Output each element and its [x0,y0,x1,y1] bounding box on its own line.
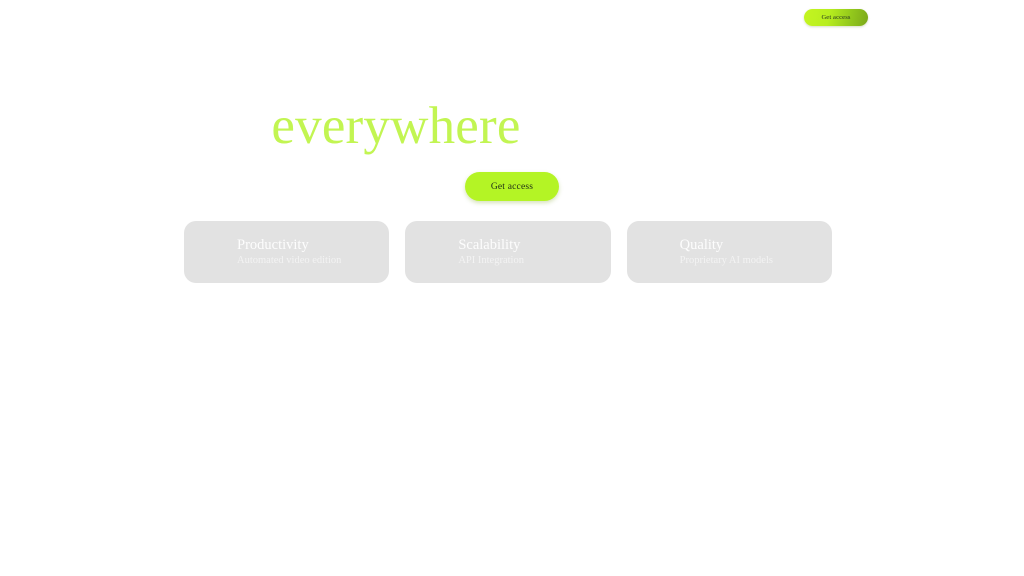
feature-card-productivity[interactable]: Productivity Automated video edition [184,221,389,283]
feature-card-title: Productivity [237,237,389,254]
feature-card-subtitle: API Integration [458,254,610,267]
hero-section: everywhere Get access Productivity Autom… [0,0,1024,576]
feature-card-subtitle: Automated video edition [237,254,389,267]
hero-title: everywhere [0,96,792,156]
feature-card-subtitle: Proprietary AI models [680,254,832,267]
feature-card-title: Quality [680,237,832,254]
feature-card-quality[interactable]: Quality Proprietary AI models [627,221,832,283]
feature-card-list: Productivity Automated video edition Sca… [184,221,832,283]
feature-card-scalability[interactable]: Scalability API Integration [405,221,610,283]
hero-cta-container: Get access [0,172,1024,201]
hero-get-access-button[interactable]: Get access [465,172,559,201]
feature-card-title: Scalability [458,237,610,254]
